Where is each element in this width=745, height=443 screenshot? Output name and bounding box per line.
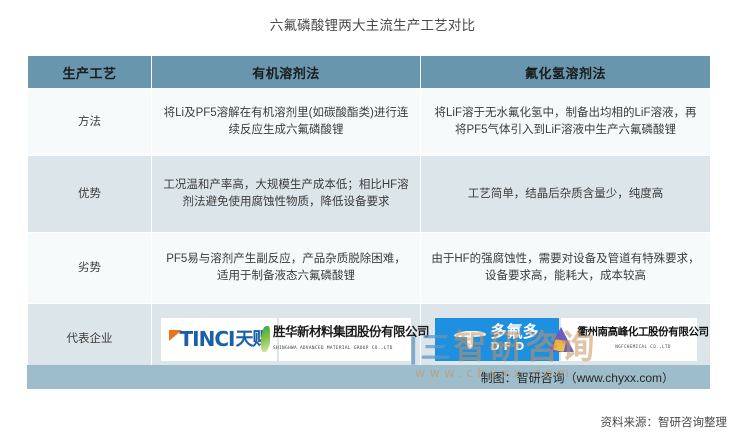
row-label-disadvantage: 劣势: [28, 233, 152, 304]
cell-firms-organic: TINCI 天赐 胜华新材料集团股份有限公司 SHINGHWA ADVANCED…: [152, 304, 421, 375]
row-label-representative-firms: 代表企业: [28, 304, 152, 375]
cell-method-organic: 将Li及PF5溶解在有机溶剂里(如碳酸酯类)进行连续反应生成六氟磷酸锂: [152, 89, 421, 156]
dfd-bird-icon: [454, 328, 486, 350]
cell-firms-hf: 多氟多 DFD 衢州南高峰化工股份有限公司 NGFCHEMICAL CO.,L: [421, 304, 711, 375]
logo-group-hf: 多氟多 DFD 衢州南高峰化工股份有限公司 NGFCHEMICAL CO.,L: [430, 318, 701, 361]
column-header-hf-solvent: 氟化氢溶剂法: [421, 56, 711, 89]
column-header-organic-solvent: 有机溶剂法: [152, 56, 421, 89]
page-title: 六氟磷酸锂两大主流生产工艺对比: [0, 14, 745, 34]
table-header-row: 生产工艺 有机溶剂法 氟化氢溶剂法: [28, 56, 711, 89]
credit-bar: 制图：智研咨询（www.chyxx.com）: [27, 365, 710, 389]
table-row-representative-firms: 代表企业 TINCI 天赐: [28, 304, 711, 375]
nangaofeng-logo-cn: 衢州南高峰化工股份有限公司: [577, 326, 708, 338]
shinghwa-logo-en: SHINGHWA ADVANCED MATERIAL GROUP CO.,LTD: [273, 346, 393, 351]
cell-advantage-hf: 工艺简单，结晶后杂质含量少，纯度高: [421, 156, 711, 233]
table-row-method: 方法 将Li及PF5溶解在有机溶剂里(如碳酸酯类)进行连续反应生成六氟磷酸锂 将…: [28, 89, 711, 156]
dfd-logo-cn: 多氟多: [490, 324, 538, 341]
tinci-logo-en: TINCI: [180, 331, 235, 348]
cell-method-hf: 将LiF溶于无水氟化氢中，制备出均相的LiF溶液，再将PF5气体引入到LiF溶液…: [421, 89, 711, 156]
logo-group-organic: TINCI 天赐 胜华新材料集团股份有限公司 SHINGHWA ADVANCED…: [161, 318, 411, 361]
tinci-logo: TINCI 天赐: [161, 318, 277, 361]
table-row-disadvantage: 劣势 PF5易与溶剂产生副反应，产品杂质脱除困难，适用于制备液态六氟磷酸锂 由于…: [28, 233, 711, 304]
shinghwa-logo-cn: 胜华新材料集团股份有限公司: [273, 325, 429, 339]
shinghwa-leaf-icon: [261, 326, 270, 352]
source-line: 资料来源：智研咨询整理: [601, 414, 728, 430]
comparison-table: 生产工艺 有机溶剂法 氟化氢溶剂法 方法 将Li及PF5溶解在有机溶剂里(如碳酸…: [27, 55, 711, 375]
table-row-advantage: 优势 工况温和产率高，大规模生产成本低；相比HF溶剂法避免使用腐蚀性物质，降低设…: [28, 156, 711, 233]
nangaofeng-mountain-icon: [548, 327, 574, 352]
row-label-method: 方法: [28, 89, 152, 156]
column-header-process: 生产工艺: [28, 56, 152, 89]
shinghwa-logo: 胜华新材料集团股份有限公司 SHINGHWA ADVANCED MATERIAL…: [279, 318, 411, 361]
nangaofeng-logo: 衢州南高峰化工股份有限公司 NGFCHEMICAL CO.,LTD: [561, 318, 697, 361]
comparison-table-wrapper: 生产工艺 有机溶剂法 氟化氢溶剂法 方法 将Li及PF5溶解在有机溶剂里(如碳酸…: [27, 55, 710, 375]
cell-disadvantage-organic: PF5易与溶剂产生副反应，产品杂质脱除困难，适用于制备液态六氟磷酸锂: [152, 233, 421, 304]
dfd-logo: 多氟多 DFD: [435, 318, 559, 361]
credit-text: 制图：智研咨询（www.chyxx.com）: [481, 369, 674, 386]
cell-advantage-organic: 工况温和产率高，大规模生产成本低；相比HF溶剂法避免使用腐蚀性物质，降低设备要求: [152, 156, 421, 233]
dfd-logo-en: DFD: [490, 340, 528, 353]
nangaofeng-logo-en: NGFCHEMICAL CO.,LTD: [615, 344, 671, 349]
cell-disadvantage-hf: 由于HF的强腐蚀性，需要对设备及管道有特殊要求，设备要求高，能耗大，成本较高: [421, 233, 711, 304]
row-label-advantage: 优势: [28, 156, 152, 233]
